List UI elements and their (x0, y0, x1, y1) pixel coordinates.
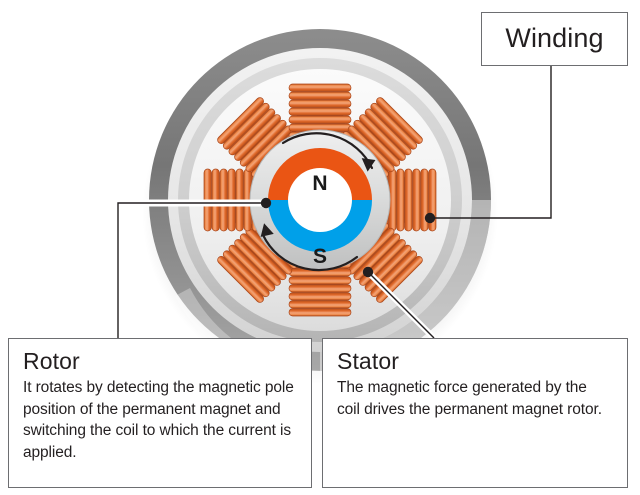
leader-stator (363, 267, 434, 338)
leader-rotor (118, 198, 271, 345)
stator-anchor-dot (363, 267, 373, 277)
callout-winding-title: Winding (505, 23, 603, 53)
winding-anchor-dot (425, 213, 435, 223)
rotor-anchor-dot (261, 198, 271, 208)
leader-winding (425, 66, 551, 223)
callout-stator-title: Stator (337, 348, 613, 374)
callout-stator-body: The magnetic force generated by the coil… (337, 377, 613, 420)
callout-rotor-title: Rotor (23, 348, 297, 374)
callout-winding[interactable]: Winding (481, 12, 628, 66)
callout-stator[interactable]: Stator The magnetic force generated by t… (322, 338, 628, 488)
callout-rotor[interactable]: Rotor It rotates by detecting the magnet… (8, 338, 312, 488)
callout-rotor-body: It rotates by detecting the magnetic pol… (23, 377, 297, 463)
diagram-canvas: N S Winding Rotor It rotates by detectin… (0, 0, 640, 495)
